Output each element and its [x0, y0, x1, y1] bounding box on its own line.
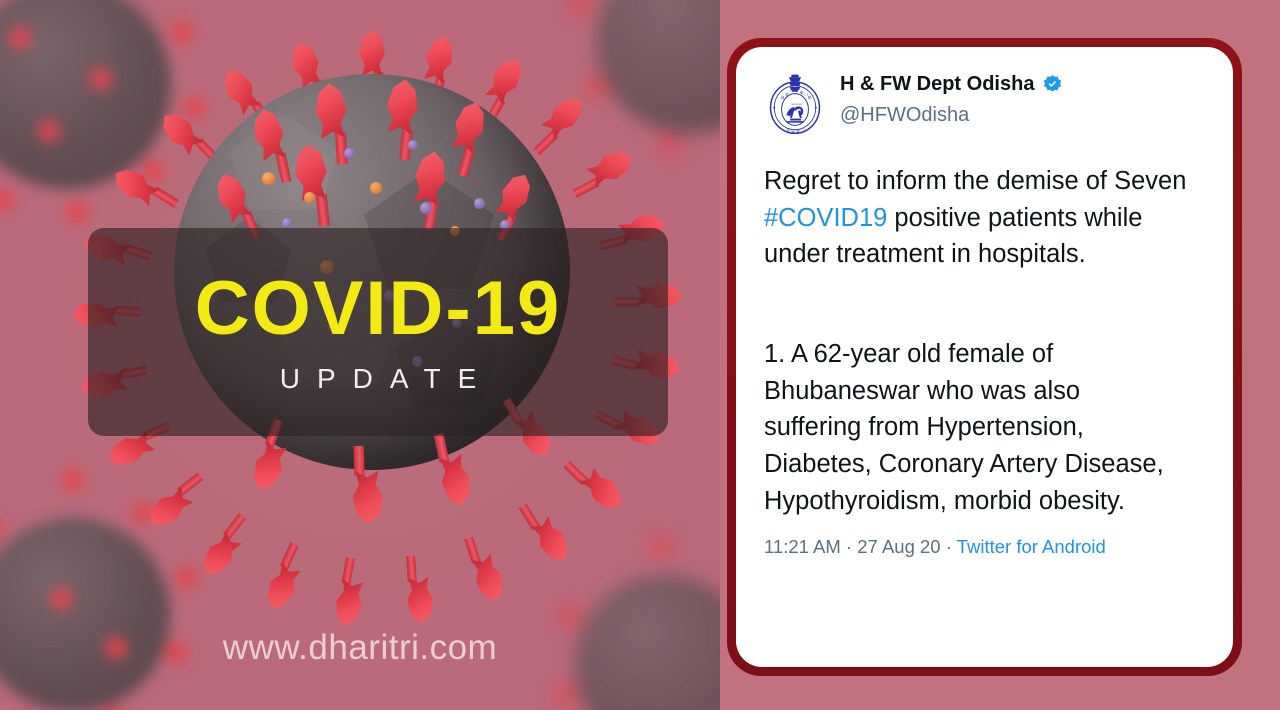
- author-names: H & FW Dept Odisha @HFWOdisha: [840, 69, 1063, 126]
- verified-badge-icon: [1042, 74, 1063, 95]
- background-virus-bottom-right: [540, 540, 720, 710]
- tweet-card-frame: ଓଡ଼ି ଶାର ସରକା ସତ୍ୟମେବ H & FW Dept Odisha: [727, 38, 1242, 676]
- svg-text:ସ: ସ: [786, 127, 789, 132]
- svg-text:ଓ: ଓ: [781, 95, 784, 100]
- covid-update-banner: COVID-19 UPDATE: [88, 228, 668, 436]
- meta-separator-1: ·: [841, 536, 857, 557]
- tweet-text-case-1: 1. A 62-year old female of Bhubaneswar w…: [764, 336, 1207, 520]
- svg-text:ଡ଼: ଡ଼: [785, 92, 788, 97]
- tweet-text: Regret to inform the demise of Seven #CO…: [764, 163, 1207, 310]
- avatar[interactable]: ଓଡ଼ି ଶାର ସରକା ସତ୍ୟମେବ: [764, 71, 826, 137]
- virus-artwork-panel: COVID-19 UPDATE www.dharitri.com: [0, 0, 720, 710]
- tweet-metadata: 11:21 AM · 27 Aug 20 · Twitter for Andro…: [764, 536, 1207, 558]
- covid-title: COVID-19: [195, 271, 562, 347]
- svg-text:କ: କ: [796, 129, 799, 134]
- meta-separator-2: ·: [941, 536, 957, 557]
- tweet-time: 11:21 AM: [764, 536, 841, 557]
- tweet-card[interactable]: ଓଡ଼ି ଶାର ସରକା ସତ୍ୟମେବ H & FW Dept Odisha: [736, 47, 1233, 667]
- tweet-text-part1-before: Regret to inform the demise of Seven: [764, 167, 1186, 195]
- author-display-name: H & FW Dept Odisha: [840, 73, 1034, 95]
- tweet-header: ଓଡ଼ି ଶାର ସରକା ସତ୍ୟମେବ H & FW Dept Odisha: [764, 69, 1207, 137]
- svg-text:ା: ା: [801, 127, 805, 132]
- display-name-row: H & FW Dept Odisha: [840, 73, 1063, 95]
- site-watermark: www.dharitri.com: [0, 628, 720, 668]
- covid-update-graphic: COVID-19 UPDATE www.dharitri.com: [0, 0, 1280, 710]
- update-subtitle: UPDATE: [263, 365, 494, 393]
- hashtag-covid19[interactable]: #COVID19: [764, 204, 887, 232]
- tweet-source[interactable]: Twitter for Android: [957, 536, 1106, 557]
- svg-text:ସତ୍ୟମେବ: ସତ୍ୟମେବ: [791, 103, 802, 106]
- author-handle[interactable]: @HFWOdisha: [840, 104, 1063, 126]
- tweet-date: 27 Aug 20: [857, 536, 940, 557]
